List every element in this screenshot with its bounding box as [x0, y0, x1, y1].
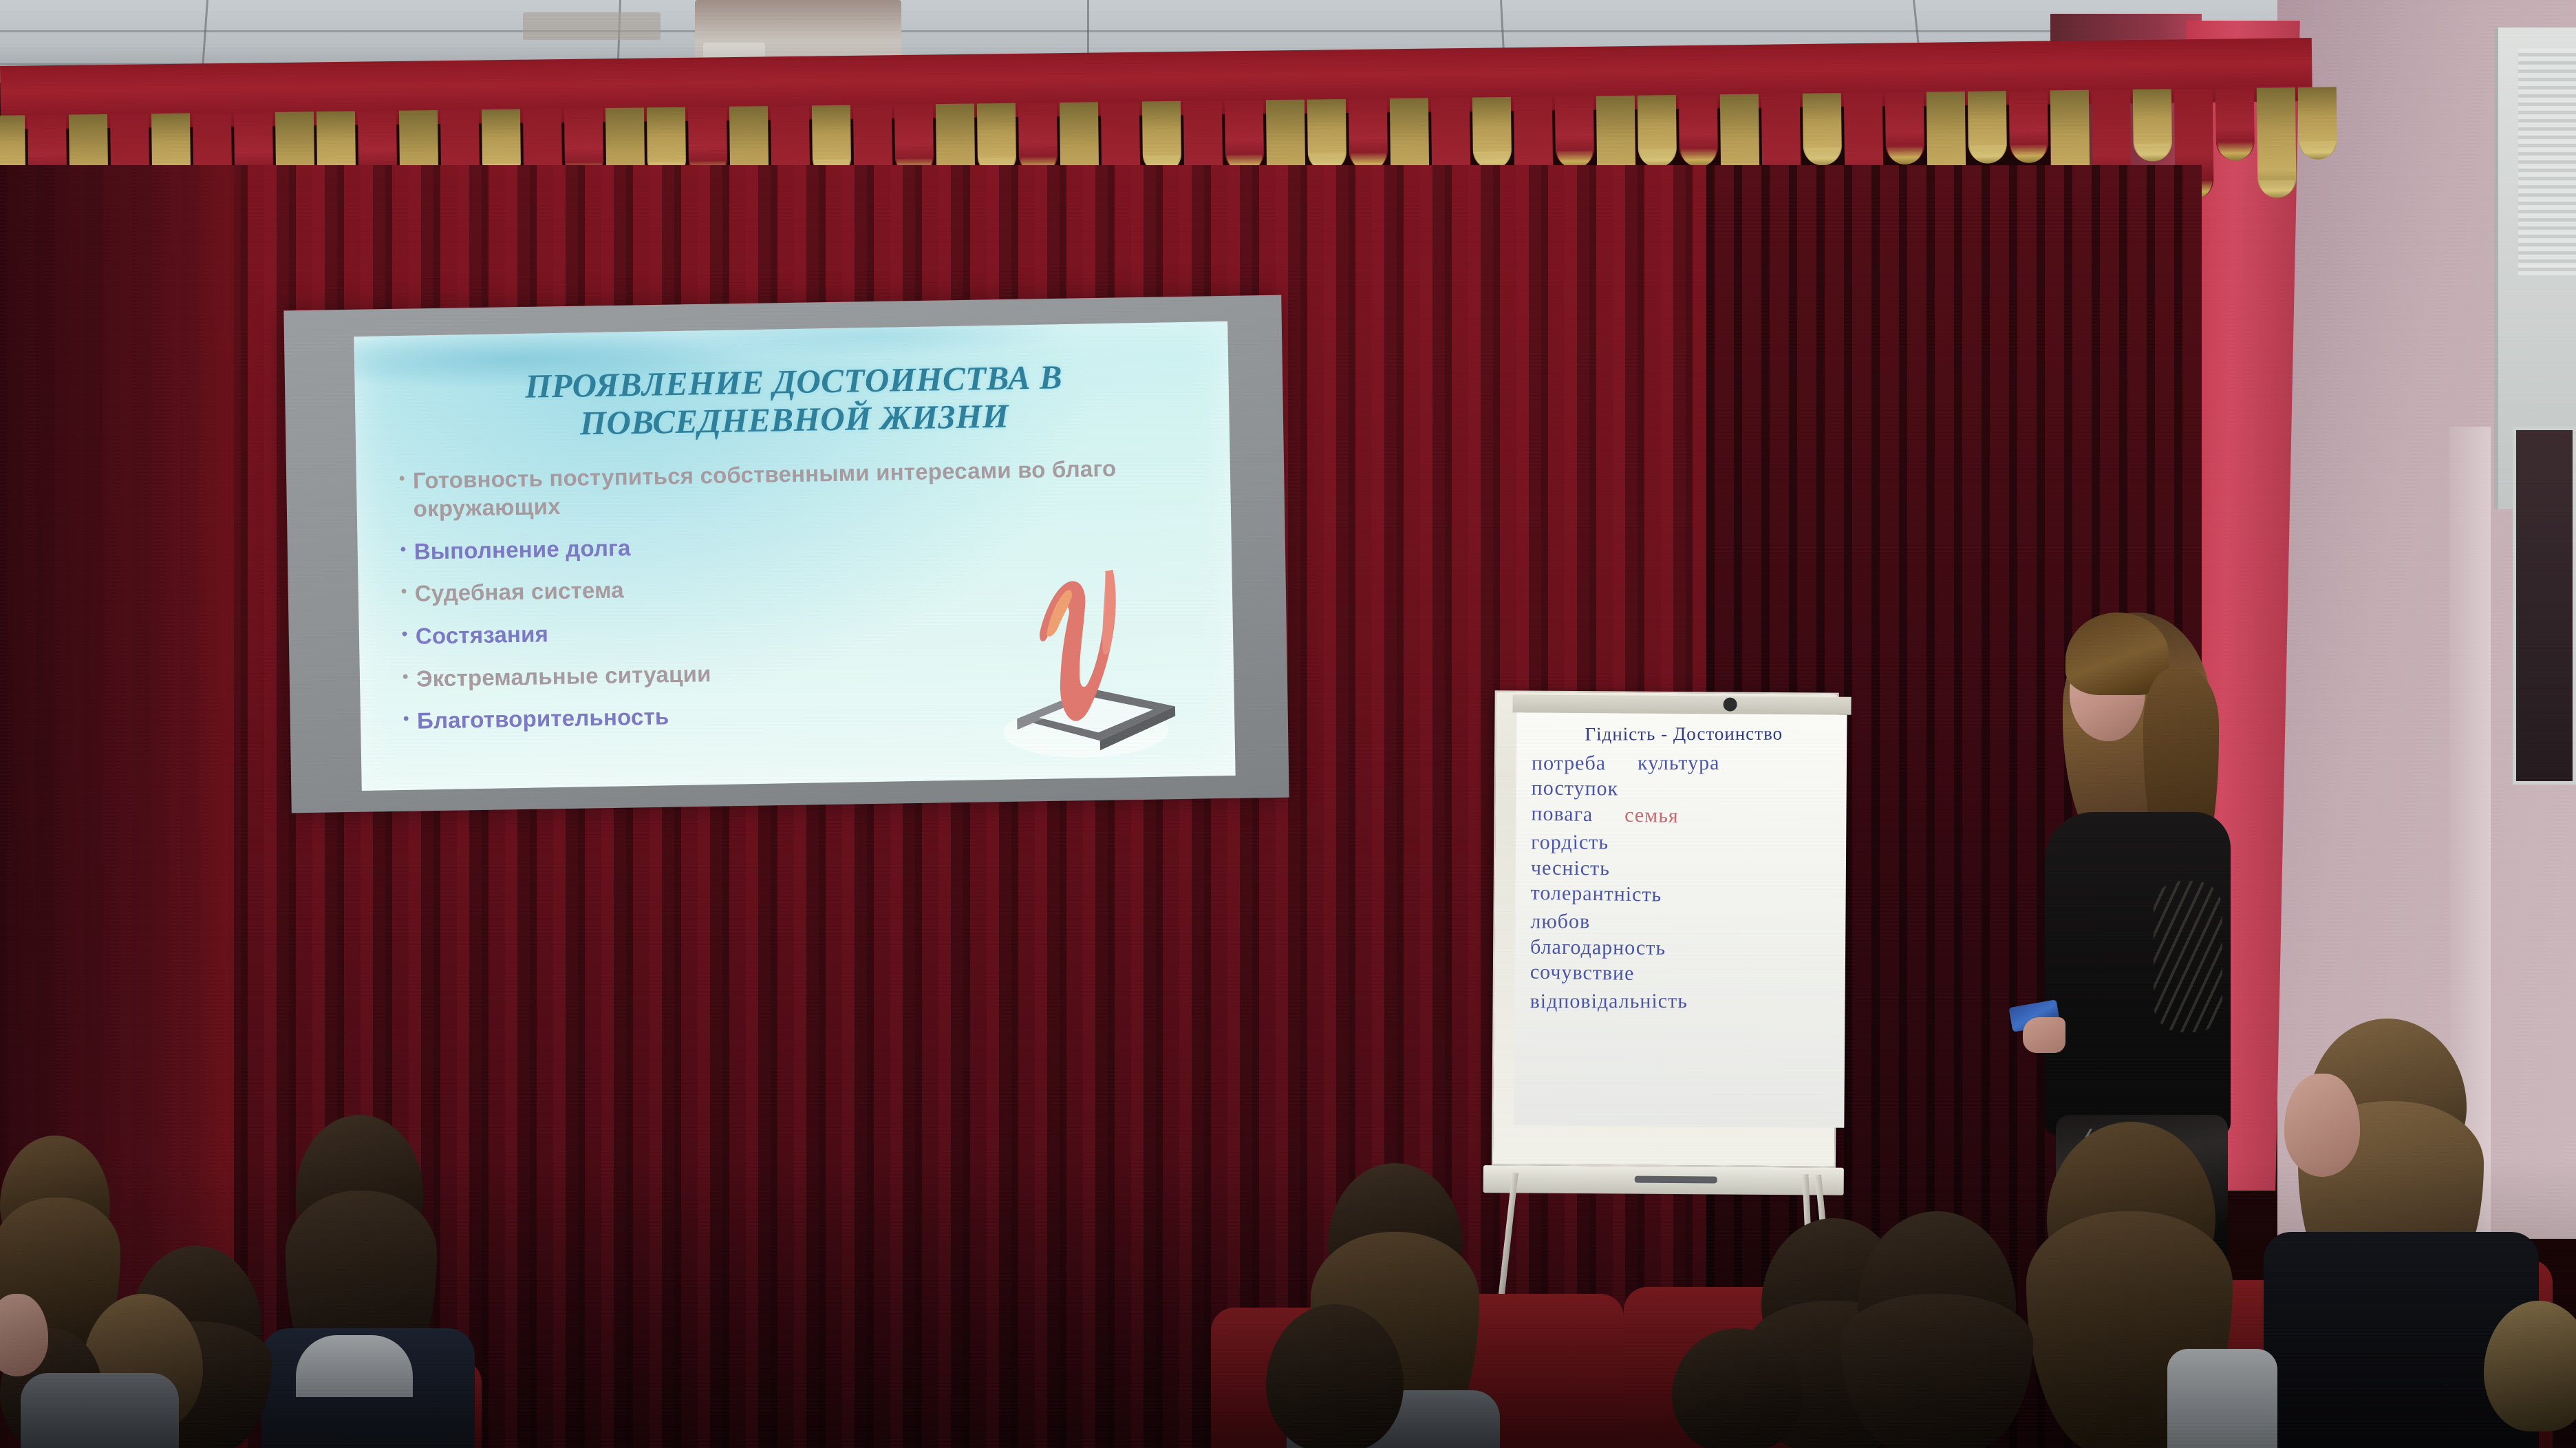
flipchart-word: відповідальність — [1530, 988, 1688, 1015]
flipchart-word: гордість — [1531, 829, 1609, 856]
flipchart-word: культура — [1638, 750, 1719, 777]
valance-tab — [1679, 94, 1718, 167]
flipchart-row-1: потребакультура — [1532, 750, 1836, 777]
valance-tab — [2133, 89, 2172, 162]
flipchart-row-2: поступок — [1532, 776, 1836, 804]
valance-tab — [2215, 88, 2255, 161]
valance-tab — [1349, 98, 1388, 171]
valance-tab — [1472, 97, 1512, 170]
bullet-dot-icon: • — [402, 664, 417, 689]
flipchart-word: потреба — [1532, 750, 1606, 777]
presentation-room-scene: ПРОЯВЛЕНИЕ ДОСТОИНСТВА В ПОВСЕДНЕВНОЙ ЖИ… — [0, 0, 2576, 1448]
flipchart-row-10: відповідальність — [1530, 988, 1834, 1014]
flipchart-word: поступок — [1532, 776, 1619, 802]
flipchart-row-4: гордість — [1531, 829, 1835, 856]
audience-torso — [2167, 1349, 2277, 1448]
valance-tab — [2257, 87, 2297, 198]
flipchart-row-9: сочувствие — [1530, 959, 1835, 990]
flipchart-title: Гідність - Достоинство — [1532, 723, 1836, 745]
checkmark-in-checkbox-icon — [954, 559, 1184, 769]
valance-tab — [2009, 90, 2048, 163]
flipchart-word: сочувствие — [1530, 959, 1635, 988]
window-blinds — [2518, 48, 2576, 275]
flipchart-row-8: благодарность — [1530, 934, 1834, 962]
presenter-lace-sleeve — [2154, 881, 2222, 1032]
valance-tab — [2298, 87, 2337, 160]
presenter-hand — [2023, 1017, 2065, 1053]
flipchart-marker-tray — [1483, 1165, 1844, 1195]
valance-tab — [1968, 91, 2007, 164]
flipchart-word-list: потребакультурапоступокповагасемьягордіс… — [1529, 749, 1836, 1016]
flipchart-row-6: толерантність — [1530, 880, 1835, 911]
flipchart-word: повага — [1531, 800, 1593, 828]
flipchart-word: благодарность — [1530, 934, 1666, 961]
valance-tab — [1555, 96, 1594, 169]
valance-tab — [1638, 95, 1677, 168]
slide-bullet-text: Судебная система — [415, 576, 625, 608]
flipchart-clamp — [1513, 694, 1851, 714]
bullet-dot-icon: • — [403, 707, 418, 732]
slide-bullet-text: Выполнение долга — [414, 533, 631, 566]
audience-collar — [296, 1335, 413, 1397]
slide-bullet-1: •Готовность поступиться собственными инт… — [399, 452, 1205, 524]
flipchart-board: Гідність - Достоинство потребакультурапо… — [1492, 690, 1839, 1167]
slide-bullet-2: •Выполнение долга — [400, 523, 1205, 566]
valance-tab — [1307, 99, 1346, 172]
slide-bullet-text: Состязания — [416, 619, 549, 650]
flipchart-word: любов — [1530, 909, 1590, 936]
slide-bullet-text: Экстремальные ситуации — [416, 659, 711, 693]
flipchart: Гідність - Достоинство потребакультурапо… — [1477, 690, 1866, 1230]
bullet-dot-icon: • — [402, 622, 416, 647]
bullet-dot-icon: • — [399, 466, 414, 491]
flipchart-word: чесність — [1531, 855, 1610, 882]
valance-tab — [1018, 103, 1058, 175]
valance-tab — [1142, 101, 1181, 174]
flipchart-paper: Гідність - Достоинство потребакультурапо… — [1514, 712, 1847, 1127]
flipchart-pin-icon — [1724, 698, 1737, 712]
audience-face — [2284, 1074, 2360, 1177]
presentation-slide: ПРОЯВЛЕНИЕ ДОСТОИНСТВА В ПОВСЕДНЕВНОЙ ЖИ… — [354, 321, 1235, 791]
flipchart-row-5: чесність — [1531, 855, 1835, 883]
audience-torso — [21, 1373, 179, 1448]
flipchart-word: семья — [1624, 802, 1679, 830]
window-lower-pane — [2513, 427, 2576, 785]
flipchart-word: толерантність — [1530, 880, 1662, 908]
valance-tab — [1225, 100, 1264, 173]
slide-title: ПРОЯВЛЕНИЕ ДОСТОИНСТВА В ПОВСЕДНЕВНОЙ ЖИ… — [385, 356, 1203, 446]
ceiling-vent — [523, 12, 661, 40]
slide-bullet-text: Благотворительность — [417, 702, 669, 735]
flipchart-row-3: повагасемья — [1531, 800, 1836, 831]
flipchart-row-7: любов — [1530, 908, 1834, 935]
audience-hair — [1840, 1294, 2033, 1448]
bullet-dot-icon: • — [400, 537, 414, 562]
valance-tab — [1885, 92, 1924, 165]
valance-tab — [1803, 93, 1842, 166]
bullet-dot-icon: • — [401, 579, 416, 604]
slide-bullet-text: Готовность поступиться собственными инте… — [413, 452, 1205, 523]
